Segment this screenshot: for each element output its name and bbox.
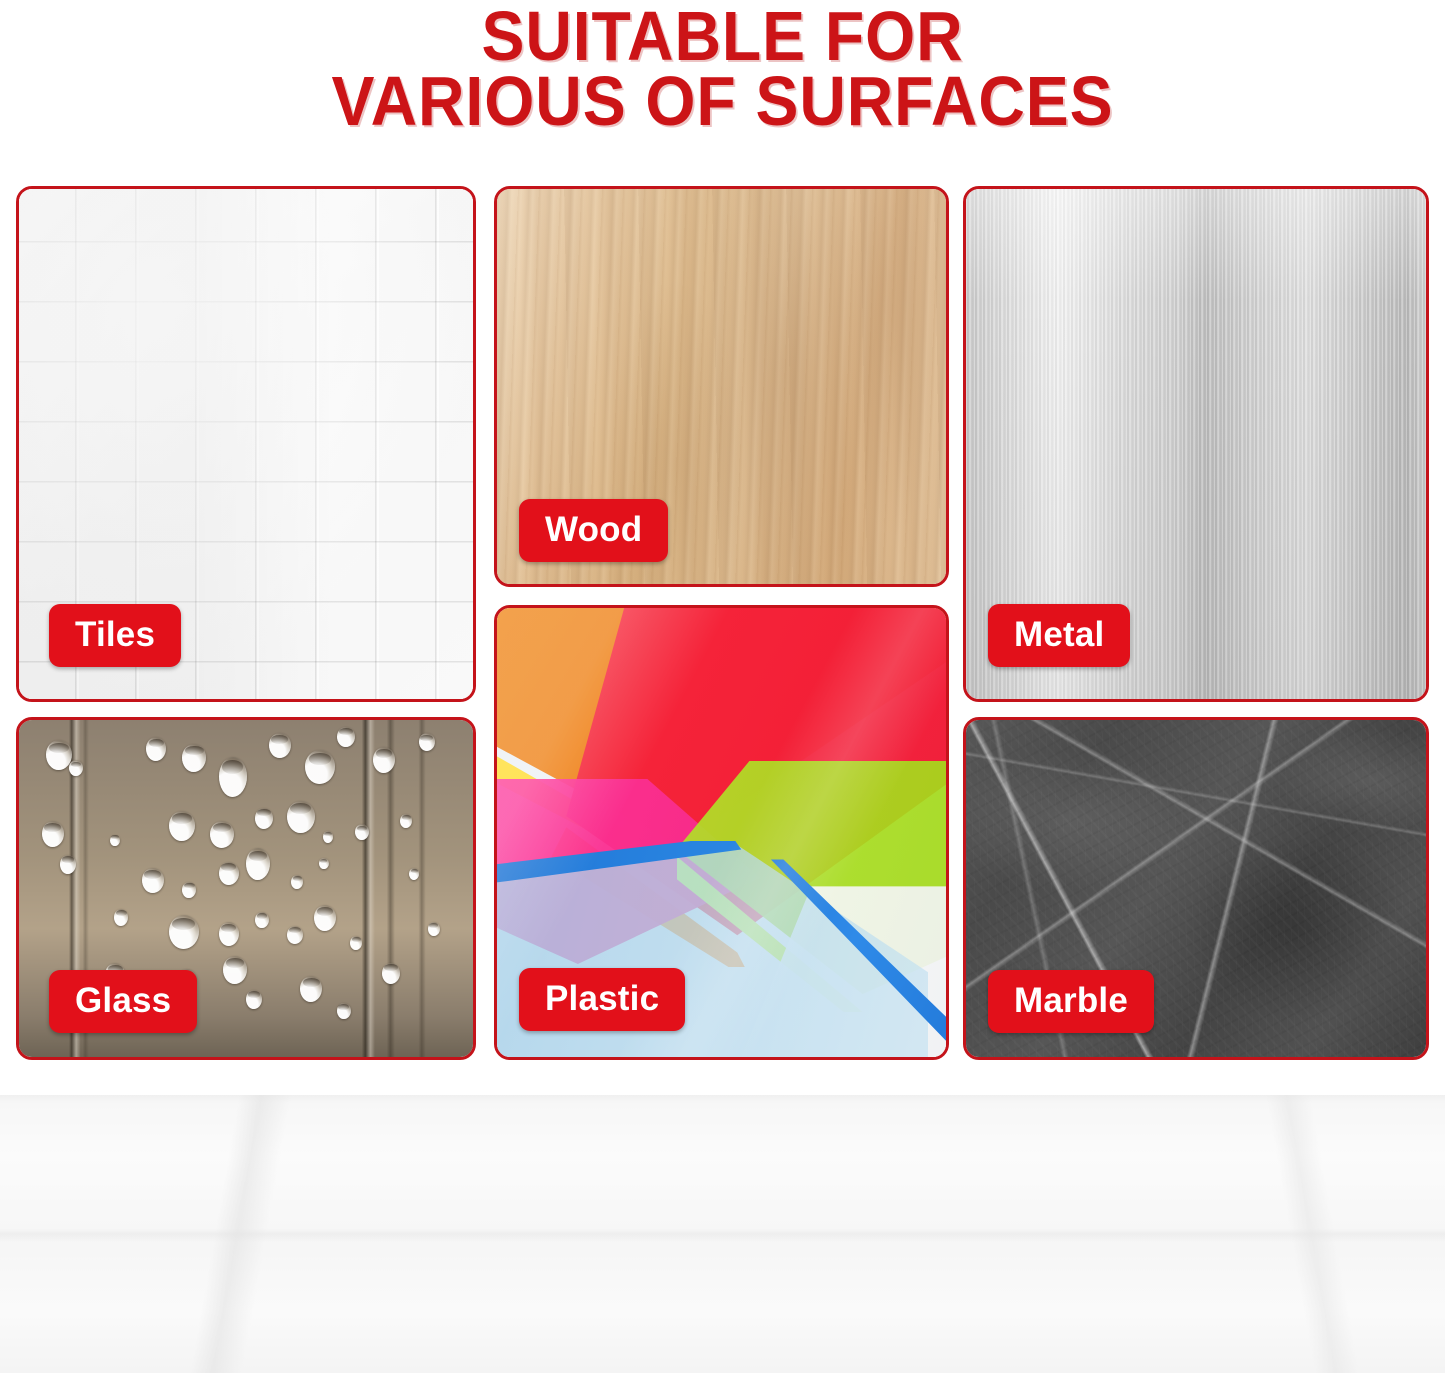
surface-label-plastic: Plastic [519,968,685,1031]
surface-panel-marble[interactable]: Marble [963,717,1429,1060]
surface-panel-glass[interactable]: Glass [16,717,476,1060]
surface-panel-grid: Tiles Wood Metal Plastic [0,186,1445,1071]
page-title: SUITABLE FOR VARIOUS OF SURFACES [58,0,1387,134]
bottom-white-surface [0,1095,1445,1373]
surface-label-metal: Metal [988,604,1130,667]
page-title-line-1: SUITABLE FOR [58,4,1387,69]
surface-label-wood: Wood [519,499,668,562]
page-title-line-2: VARIOUS OF SURFACES [58,69,1387,134]
surface-panel-tiles[interactable]: Tiles [16,186,476,702]
surface-panel-wood[interactable]: Wood [494,186,949,587]
surface-label-tiles: Tiles [49,604,181,667]
surface-label-marble: Marble [988,970,1154,1033]
surface-label-glass: Glass [49,970,197,1033]
surface-panel-metal[interactable]: Metal [963,186,1429,702]
surface-panel-plastic[interactable]: Plastic [494,605,949,1060]
